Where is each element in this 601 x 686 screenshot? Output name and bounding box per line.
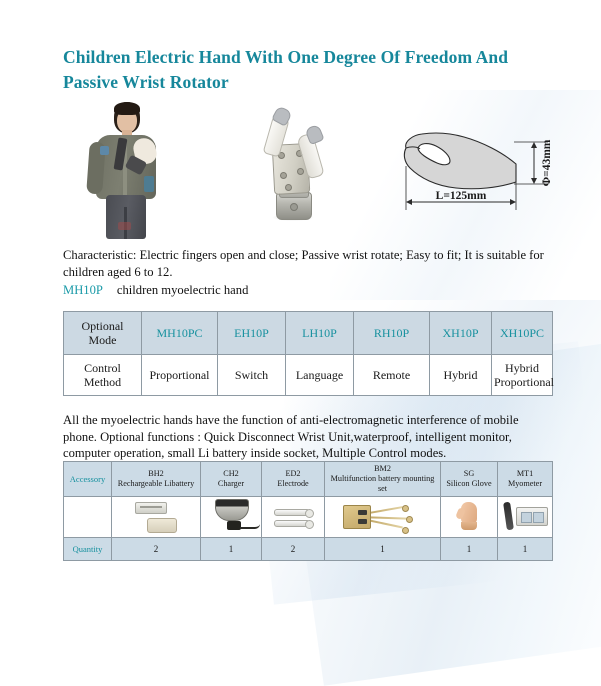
hand-screw xyxy=(280,172,287,179)
accessory-table: Accessory BH2 Rechargeable Libattery CH2… xyxy=(63,461,553,561)
electrode-icon xyxy=(262,497,324,537)
method-cell-switch: Switch xyxy=(218,355,286,396)
dim-arrow-down xyxy=(531,178,537,184)
quantity-bh2: 2 xyxy=(112,538,201,561)
mounting-lead-1 xyxy=(369,506,403,514)
quantity-row-label: Quantity xyxy=(64,538,112,561)
battery-mounting-set-icon xyxy=(325,497,440,537)
accessory-code-mt1: MT1 xyxy=(517,469,533,478)
accessory-image-bh2 xyxy=(112,497,201,538)
accessory-header-sg: SG Silicon Glove xyxy=(441,462,498,497)
accessory-code-bm2: BM2 xyxy=(374,464,391,473)
myometer-probe xyxy=(503,502,514,531)
hand-dimension-diagram: L=125mm Φ=43mm xyxy=(398,106,558,226)
model-code: MH10P xyxy=(63,283,103,297)
optional-mode-line2: Mode xyxy=(89,333,117,347)
length-dimension-label: L=125mm xyxy=(436,190,487,202)
dimension-drawing-svg: L=125mm Φ=43mm xyxy=(398,106,558,226)
photo-detail-knee xyxy=(118,222,131,230)
charger-cord xyxy=(240,524,260,529)
mounting-lead-2 xyxy=(368,516,406,519)
model-cell-eh10p: EH10P xyxy=(218,312,286,355)
dim-arrow-left xyxy=(406,199,412,205)
photo-detail-jacket-patch-2 xyxy=(144,176,154,192)
optional-functions-paragraph: All the myoelectric hands have the funct… xyxy=(63,412,547,462)
quantity-bm2: 1 xyxy=(325,538,441,561)
characteristic-paragraph: Characteristic: Electric fingers open an… xyxy=(63,247,547,280)
model-cell-lh10p: LH10P xyxy=(286,312,354,355)
mounting-lead-tip-2 xyxy=(406,516,413,523)
accessory-image-ch2 xyxy=(201,497,262,538)
mounting-lead-tip-3 xyxy=(402,527,409,534)
method-cell-language: Language xyxy=(286,355,354,396)
accessory-name-bm2: Multifunction battery mounting set xyxy=(331,474,435,493)
glove-cuff xyxy=(461,522,477,530)
accessory-code-ed2: ED2 xyxy=(285,469,300,478)
hybrid-proportional-line1: Hybrid xyxy=(505,361,539,375)
control-method-line2: Method xyxy=(84,375,121,389)
mounting-lead-3 xyxy=(369,519,403,528)
charger-unit xyxy=(215,499,249,521)
accessory-row-label: Accessory xyxy=(64,462,112,497)
hybrid-proportional-line2: Proportional xyxy=(494,375,554,389)
mounting-lead-tip-1 xyxy=(402,505,409,512)
method-cell-hybrid: Hybrid xyxy=(430,355,492,396)
quantity-mt1: 1 xyxy=(498,538,553,561)
hand-screw xyxy=(297,168,304,175)
accessory-image-row xyxy=(64,497,553,538)
accessory-name-ed2: Electrode xyxy=(277,479,308,488)
charger-icon xyxy=(201,497,261,537)
accessory-code-sg: SG xyxy=(464,469,474,478)
myometer-icon xyxy=(498,497,552,537)
accessory-header-row: Accessory BH2 Rechargeable Libattery CH2… xyxy=(64,462,553,497)
electrode-probe-1 xyxy=(274,509,310,516)
table-row-control-method: Control Method Proportional Switch Langu… xyxy=(64,355,553,396)
accessory-code-bh2: BH2 xyxy=(148,469,163,478)
child-wearing-prosthetic-arm-photo xyxy=(74,102,178,237)
silicon-glove-icon xyxy=(441,497,497,537)
table-row-optional-mode: Optional Mode MH10PC EH10P LH10P RH10P X… xyxy=(64,312,553,355)
accessory-image-sg xyxy=(441,497,498,538)
accessory-name-ch2: Charger xyxy=(218,479,244,488)
model-cell-xh10p: XH10P xyxy=(430,312,492,355)
hand-screw xyxy=(285,184,292,191)
accessory-quantity-row: Quantity 2 1 2 1 1 1 xyxy=(64,538,553,561)
model-description: children myoelectric hand xyxy=(117,283,248,297)
photo-detail-jacket-patch xyxy=(100,146,109,155)
quantity-ch2: 1 xyxy=(201,538,262,561)
myometer-display-unit xyxy=(516,507,548,526)
battery-pack-upper xyxy=(135,502,167,514)
optional-mode-table: Optional Mode MH10PC EH10P LH10P RH10P X… xyxy=(63,311,553,396)
product-figures-row: L=125mm Φ=43mm xyxy=(0,100,601,240)
mounting-set-body xyxy=(343,505,371,529)
accessory-name-sg: Silicon Glove xyxy=(446,479,491,488)
diameter-dimension-label: Φ=43mm xyxy=(541,139,553,186)
accessory-name-bh2: Rechargeable Libattery xyxy=(118,479,194,488)
accessory-header-bm2: BM2 Multifunction battery mounting set xyxy=(325,462,441,497)
accessory-image-bm2 xyxy=(325,497,441,538)
method-cell-hybrid-proportional: Hybrid Proportional xyxy=(492,355,553,396)
photo-detail-trousers xyxy=(106,195,146,239)
accessory-header-ch2: CH2 Charger xyxy=(201,462,262,497)
accessory-image-ed2 xyxy=(262,497,325,538)
battery-icon xyxy=(112,497,200,537)
row-header-optional-mode: Optional Mode xyxy=(64,312,142,355)
model-cell-xh10pc: XH10PC xyxy=(492,312,553,355)
page-title: Children Electric Hand With One Degree O… xyxy=(63,45,543,95)
dim-arrow-right xyxy=(510,199,516,205)
accessory-header-mt1: MT1 Myometer xyxy=(498,462,553,497)
accessory-image-mt1 xyxy=(498,497,553,538)
model-code-line: MH10Pchildren myoelectric hand xyxy=(63,283,248,298)
quantity-ed2: 2 xyxy=(262,538,325,561)
accessory-name-mt1: Myometer xyxy=(508,479,542,488)
optional-mode-line1: Optional xyxy=(82,319,124,333)
accessory-header-ed2: ED2 Electrode xyxy=(262,462,325,497)
charger-plug xyxy=(227,521,241,530)
model-cell-rh10p: RH10P xyxy=(354,312,430,355)
method-cell-proportional: Proportional xyxy=(142,355,218,396)
dim-arrow-up xyxy=(531,142,537,148)
hand-silhouette xyxy=(404,133,516,189)
photo-detail-hair xyxy=(114,102,140,115)
control-method-line1: Control xyxy=(84,361,121,375)
method-cell-remote: Remote xyxy=(354,355,430,396)
electric-gripper-hand-photo xyxy=(252,106,338,226)
battery-pack-lower xyxy=(147,518,177,533)
electrode-probe-2 xyxy=(274,520,310,527)
accessory-code-ch2: CH2 xyxy=(223,469,238,478)
accessory-header-bh2: BH2 Rechargeable Libattery xyxy=(112,462,201,497)
row-header-control-method: Control Method xyxy=(64,355,142,396)
quantity-sg: 1 xyxy=(441,538,498,561)
model-cell-mh10pc: MH10PC xyxy=(142,312,218,355)
accessory-image-spacer xyxy=(64,497,112,538)
